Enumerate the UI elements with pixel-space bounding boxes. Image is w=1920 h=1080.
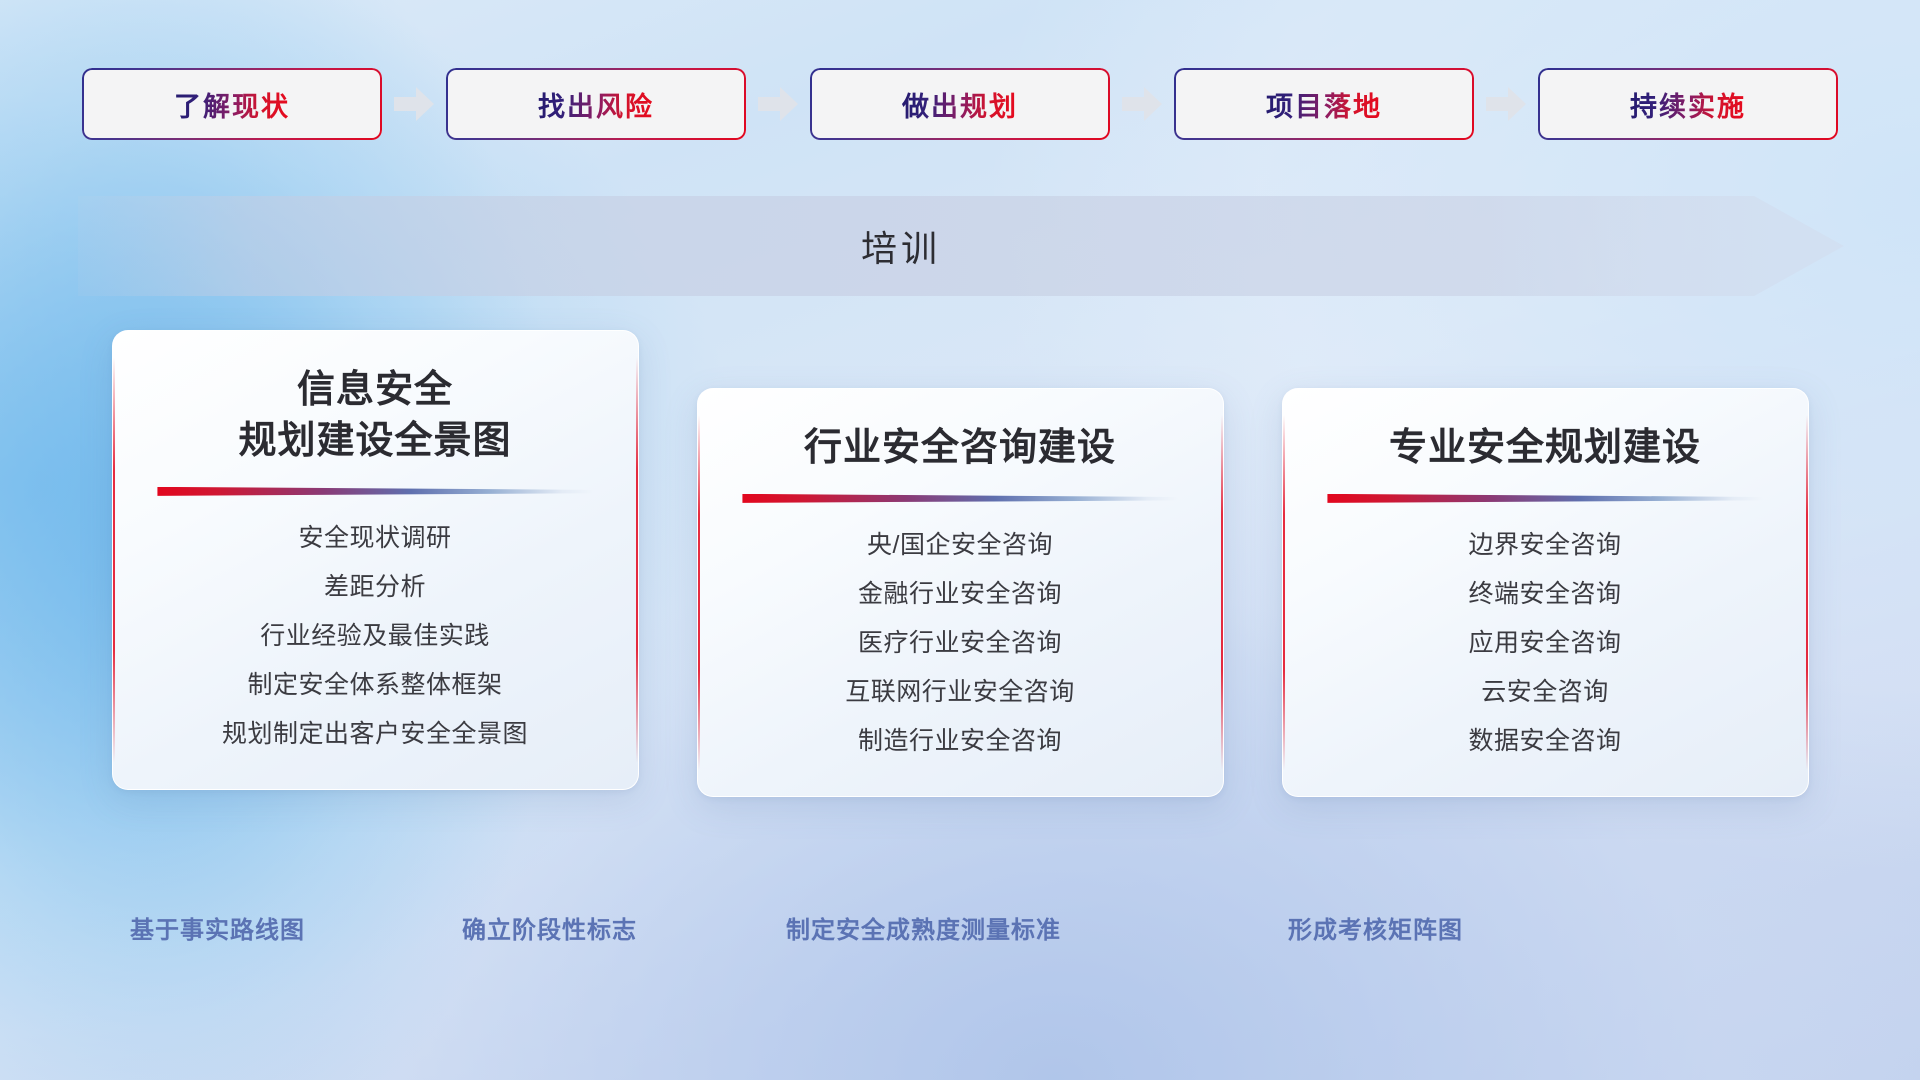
card-divider <box>157 487 592 496</box>
card-divider <box>1327 494 1762 503</box>
list-item: 应用安全咨询 <box>1309 619 1782 668</box>
list-item: 数据安全咨询 <box>1309 717 1782 766</box>
list-item: 央/国企安全咨询 <box>724 521 1197 570</box>
card-list: 央/国企安全咨询 金融行业安全咨询 医疗行业安全咨询 互联网行业安全咨询 制造行… <box>724 521 1197 766</box>
card-title: 行业安全咨询建设 <box>724 423 1197 474</box>
card-row: 信息安全 规划建设全景图 安全现状调研 差距分析 行业经验及最佳实践 制定安全体… <box>0 330 1920 797</box>
card-wrap-1: 信息安全 规划建设全景图 安全现状调研 差距分析 行业经验及最佳实践 制定安全体… <box>112 330 639 790</box>
footer-label-row: 基于事实路线图 确立阶段性标志 制定安全成熟度测量标准 形成考核矩阵图 <box>0 910 1920 958</box>
info-card-2[interactable]: 行业安全咨询建设 央/国企安全咨询 金融行业安全咨询 医疗行业安全咨询 互联网行… <box>697 388 1224 797</box>
list-item: 边界安全咨询 <box>1309 521 1782 570</box>
footer-label-1: 基于事实路线图 <box>130 910 305 945</box>
list-item: 互联网行业安全咨询 <box>724 668 1197 717</box>
info-card-3[interactable]: 专业安全规划建设 边界安全咨询 终端安全咨询 应用安全咨询 云安全咨询 数据安全… <box>1282 388 1809 797</box>
process-step-row: 了解现状 找出风险 做出规划 项目落地 <box>0 68 1920 140</box>
step-label: 找出风险 <box>538 85 654 124</box>
list-item: 制定安全体系整体框架 <box>139 661 612 710</box>
step-label: 了解现状 <box>174 85 290 124</box>
card-title: 专业安全规划建设 <box>1309 423 1782 474</box>
list-item: 医疗行业安全咨询 <box>724 619 1197 668</box>
footer-label-2: 确立阶段性标志 <box>462 910 637 945</box>
step-label: 项目落地 <box>1266 85 1382 124</box>
card-wrap-2: 行业安全咨询建设 央/国企安全咨询 金融行业安全咨询 医疗行业安全咨询 互联网行… <box>697 388 1224 797</box>
list-item: 金融行业安全咨询 <box>724 570 1197 619</box>
banner-title: 培训 <box>78 196 1724 296</box>
list-item: 规划制定出客户安全全景图 <box>139 710 612 759</box>
step-connector-arrow-4 <box>1474 68 1538 140</box>
list-item: 终端安全咨询 <box>1309 570 1782 619</box>
step-box-3[interactable]: 做出规划 <box>810 68 1110 140</box>
step-box-4[interactable]: 项目落地 <box>1174 68 1474 140</box>
step-connector-arrow-1 <box>382 68 446 140</box>
list-item: 差距分析 <box>139 563 612 612</box>
step-box-5[interactable]: 持续实施 <box>1538 68 1838 140</box>
card-title: 信息安全 规划建设全景图 <box>139 365 612 467</box>
step-box-2[interactable]: 找出风险 <box>446 68 746 140</box>
footer-label-4: 形成考核矩阵图 <box>1288 910 1463 945</box>
step-box-1[interactable]: 了解现状 <box>82 68 382 140</box>
slide-canvas: 了解现状 找出风险 做出规划 项目落地 <box>0 0 1920 1080</box>
list-item: 制造行业安全咨询 <box>724 717 1197 766</box>
step-connector-arrow-3 <box>1110 68 1174 140</box>
list-item: 安全现状调研 <box>139 514 612 563</box>
step-connector-arrow-2 <box>746 68 810 140</box>
card-wrap-3: 专业安全规划建设 边界安全咨询 终端安全咨询 应用安全咨询 云安全咨询 数据安全… <box>1282 388 1809 797</box>
training-banner: 培训 <box>78 196 1844 296</box>
list-item: 行业经验及最佳实践 <box>139 612 612 661</box>
info-card-1[interactable]: 信息安全 规划建设全景图 安全现状调研 差距分析 行业经验及最佳实践 制定安全体… <box>112 330 639 790</box>
list-item: 云安全咨询 <box>1309 668 1782 717</box>
card-list: 安全现状调研 差距分析 行业经验及最佳实践 制定安全体系整体框架 规划制定出客户… <box>139 514 612 759</box>
card-divider <box>742 494 1177 503</box>
footer-label-3: 制定安全成熟度测量标准 <box>786 910 1061 945</box>
step-label: 持续实施 <box>1630 85 1746 124</box>
step-label: 做出规划 <box>902 85 1018 124</box>
card-list: 边界安全咨询 终端安全咨询 应用安全咨询 云安全咨询 数据安全咨询 <box>1309 521 1782 766</box>
